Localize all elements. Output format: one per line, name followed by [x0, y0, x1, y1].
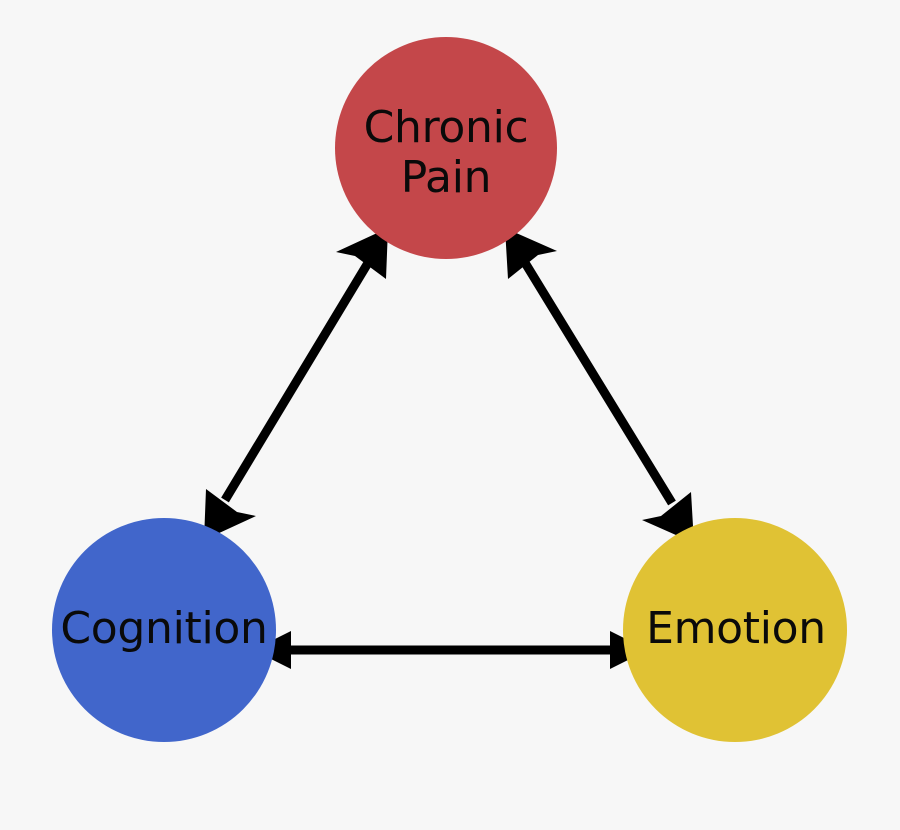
edge-chronic-pain-cognition[interactable]	[204, 228, 388, 540]
diagram-canvas: Chronic Pain Cognition Emotion	[0, 0, 900, 830]
node-label-chronic-pain-line1: Chronic	[364, 102, 529, 153]
edge-line-pain-cognition	[225, 248, 377, 500]
node-label-emotion: Emotion	[646, 603, 826, 654]
node-label-chronic-pain-line2: Pain	[401, 152, 491, 203]
node-label-cognition: Cognition	[60, 603, 267, 654]
edge-line-pain-emotion	[516, 248, 672, 503]
edge-chronic-pain-emotion[interactable]	[505, 228, 694, 543]
node-cognition[interactable]: Cognition	[52, 518, 276, 742]
node-chronic-pain[interactable]: Chronic Pain	[335, 37, 557, 259]
triad-diagram: Chronic Pain Cognition Emotion	[0, 0, 900, 830]
node-emotion[interactable]: Emotion	[623, 518, 847, 742]
edge-cognition-emotion[interactable]	[253, 631, 648, 669]
